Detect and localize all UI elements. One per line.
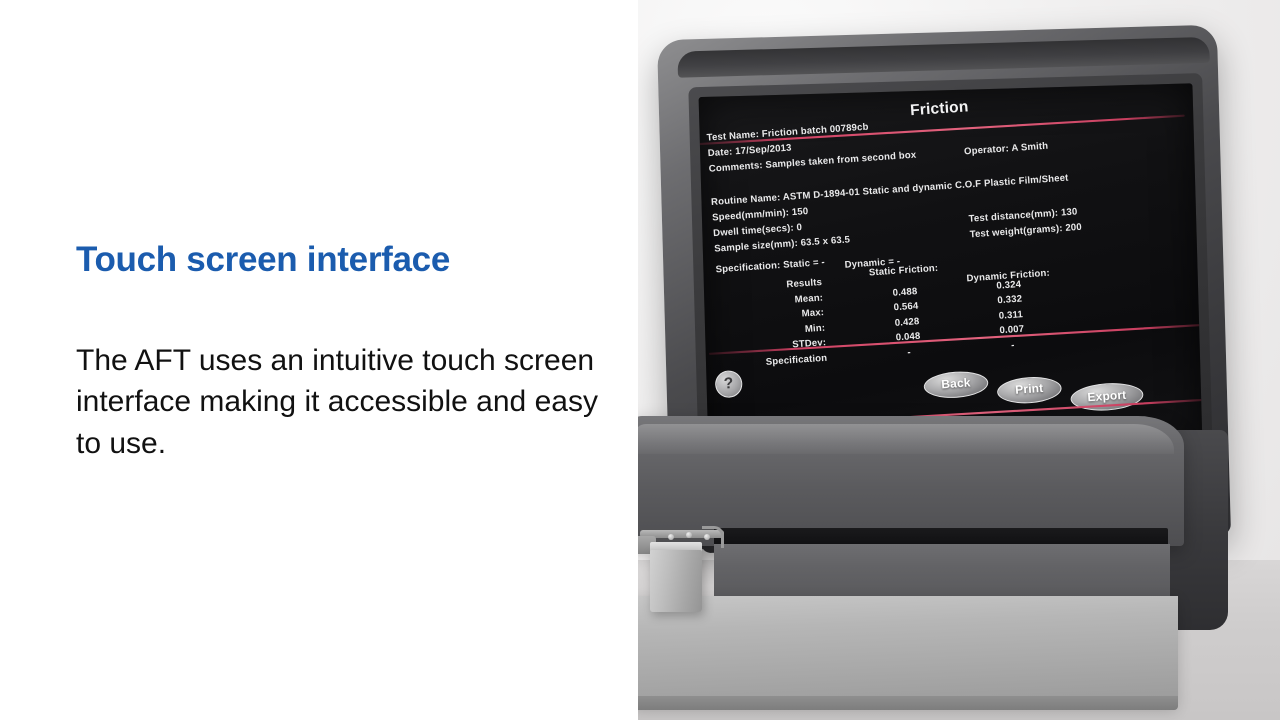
machine-rail	[714, 544, 1170, 600]
bolt-icon	[704, 534, 710, 540]
operator-line: Operator: A Smith	[964, 140, 1049, 156]
product-photo: Friction Test Name: Friction batch 00789…	[638, 0, 1280, 720]
back-button[interactable]: Back	[923, 370, 989, 400]
results-table: Results Static Friction: Dynamic Frictio…	[758, 259, 1058, 371]
body-paragraph: The AFT uses an intuitive touch screen i…	[76, 340, 606, 464]
bolt-icon	[668, 534, 674, 540]
bolt-icon	[686, 532, 692, 538]
specification-static: Specification: Static = -	[715, 257, 825, 275]
print-button[interactable]: Print	[996, 375, 1062, 405]
friction-sled[interactable]	[650, 550, 702, 612]
machine-hood-highlight	[638, 424, 1174, 454]
friction-tester-base	[638, 410, 1228, 720]
monitor-top-edge	[677, 37, 1210, 78]
machine-hood	[638, 416, 1184, 546]
machine-deck	[638, 596, 1178, 706]
help-icon[interactable]: ?	[714, 370, 743, 399]
text-panel: Touch screen interface The AFT uses an i…	[0, 0, 638, 720]
routine-right-block: Test distance(mm): 130 Test weight(grams…	[968, 204, 1082, 243]
page-title: Touch screen interface	[76, 240, 450, 280]
deck-edge	[638, 696, 1178, 710]
export-button[interactable]: Export	[1070, 381, 1144, 413]
